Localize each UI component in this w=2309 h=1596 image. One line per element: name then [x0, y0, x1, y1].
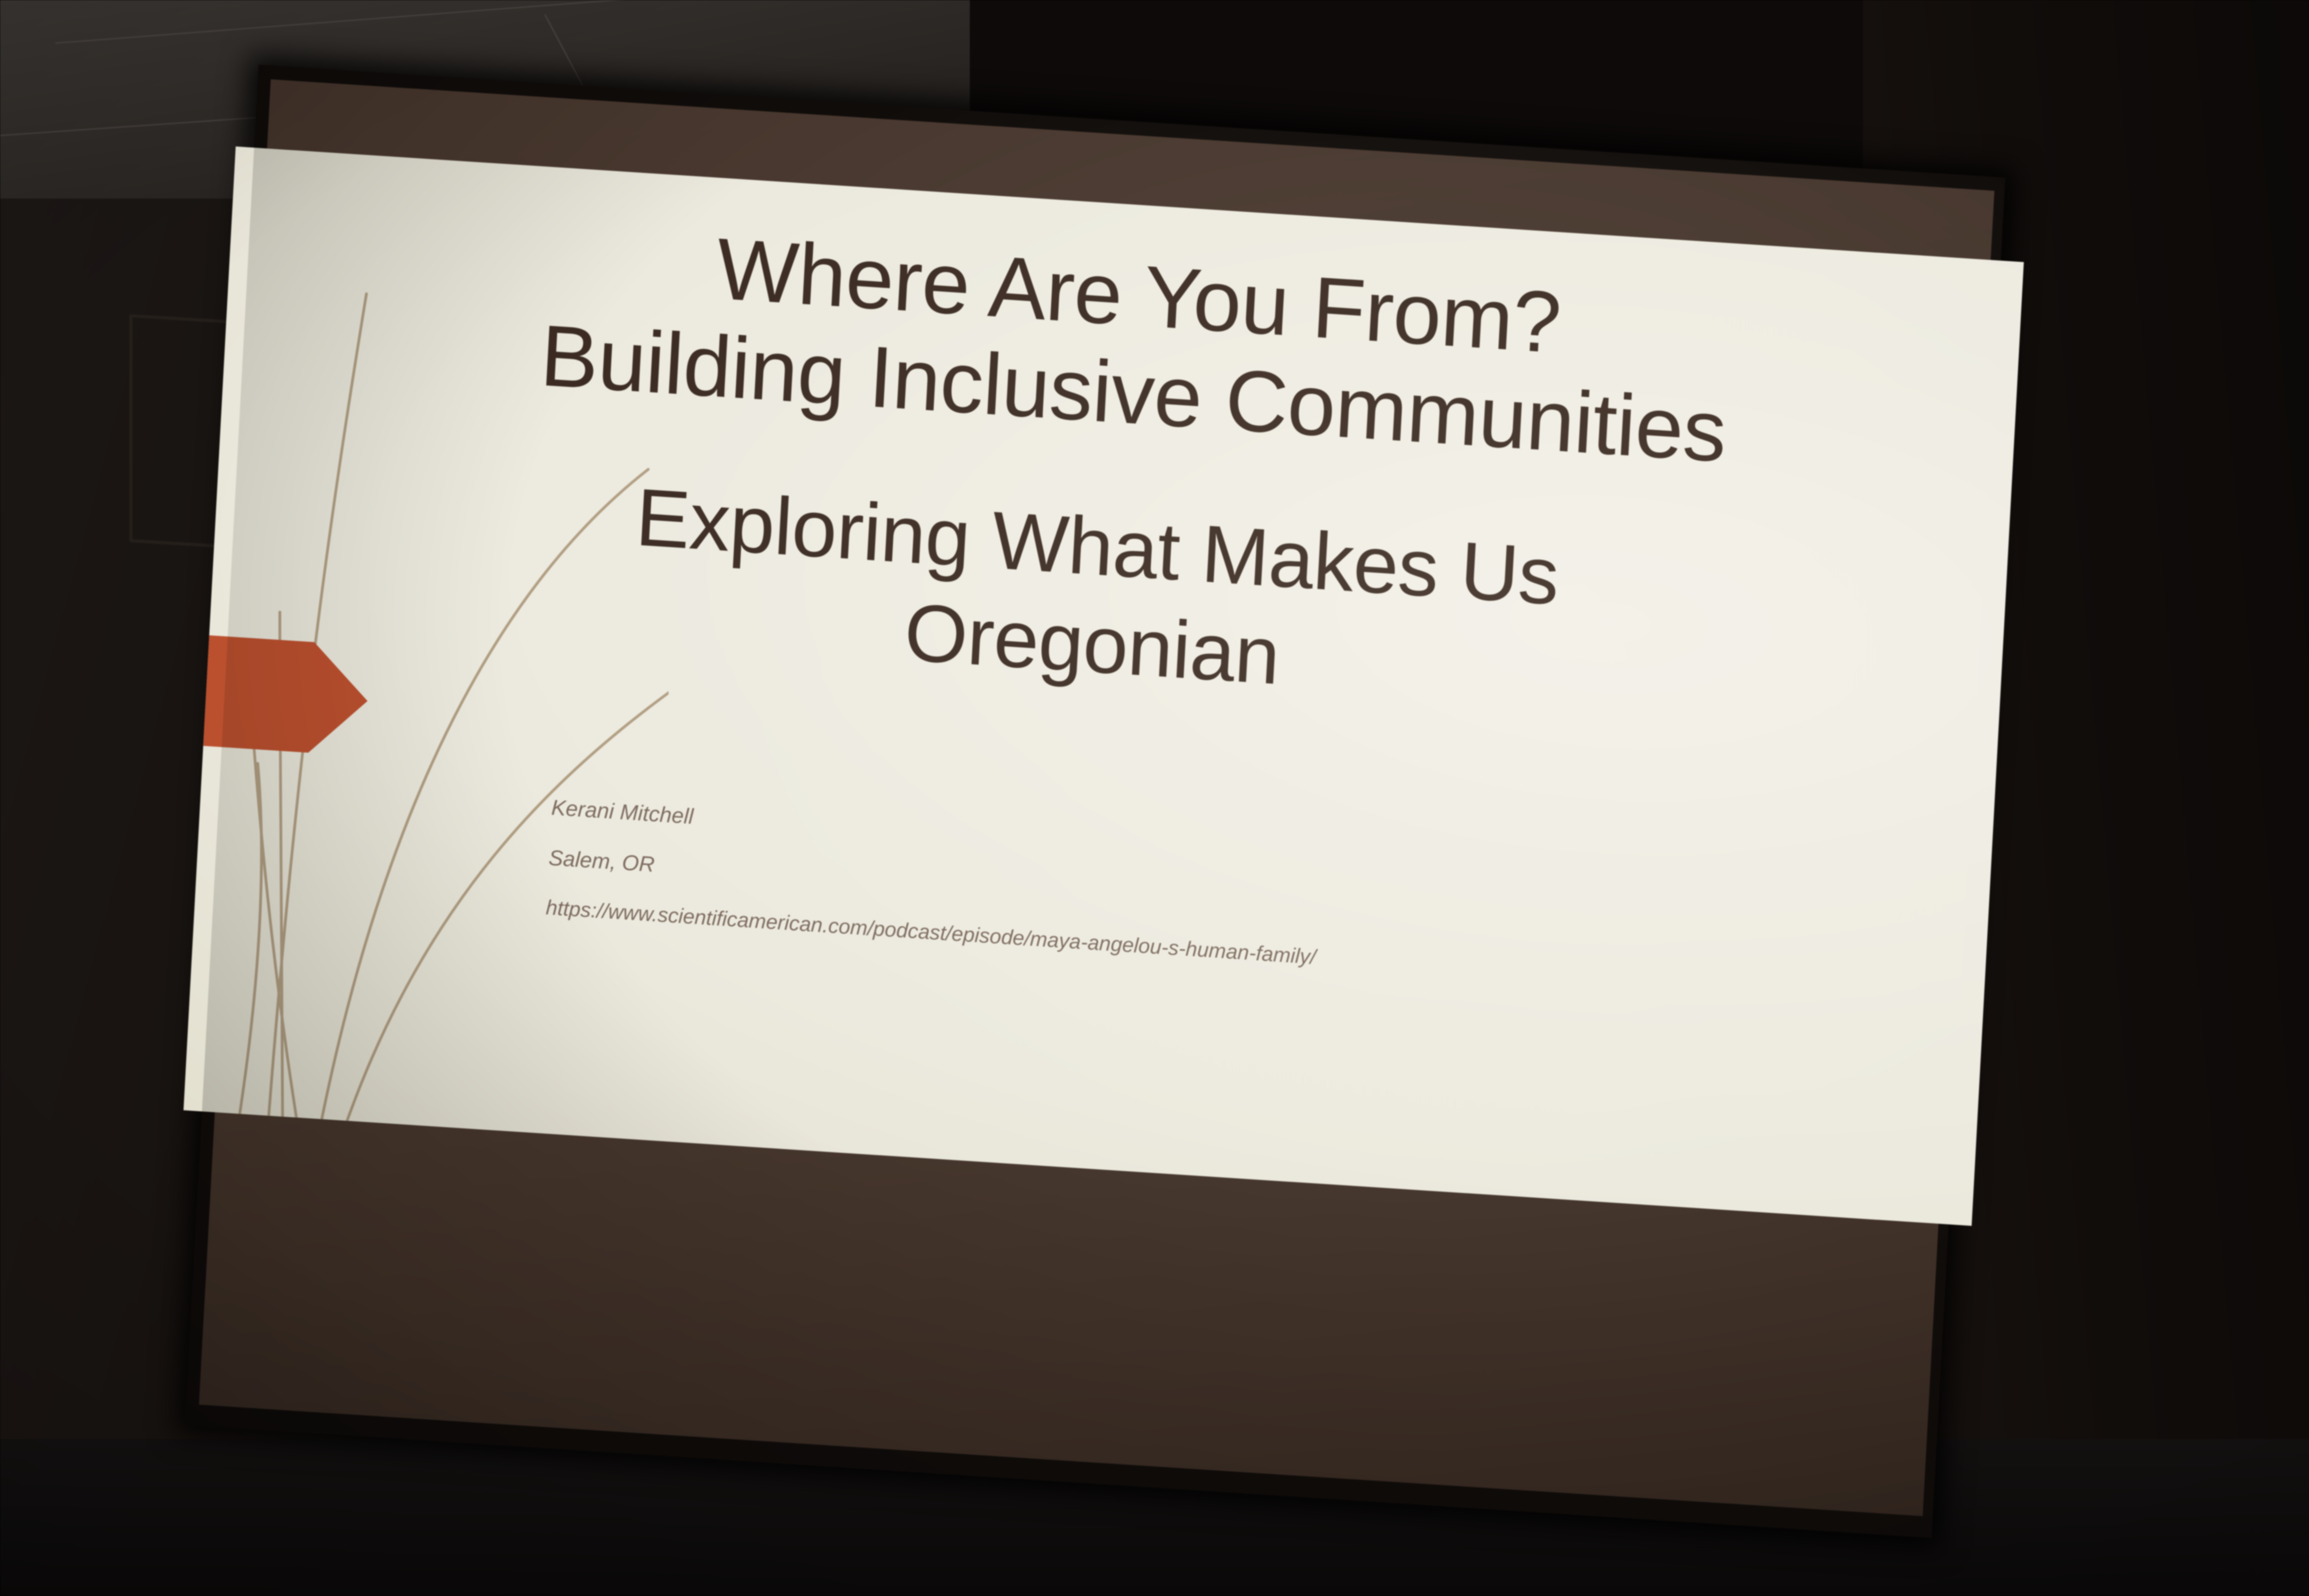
ceiling-tile-seam: [55, 0, 958, 44]
projection-screen: Where Are You From? Building Inclusive C…: [185, 65, 2005, 1538]
slide-subtitle: Exploring What Makes Us Oregonian: [467, 458, 1722, 733]
slide-title: Where Are You From? Building Inclusive C…: [417, 200, 1856, 489]
slide-text-container: Where Are You From? Building Inclusive C…: [183, 146, 2024, 1226]
projector-photo: Where Are You From? Building Inclusive C…: [0, 0, 2309, 1596]
presentation-slide: Where Are You From? Building Inclusive C…: [183, 146, 2024, 1226]
slide-subtitle-line-2: Oregonian: [902, 587, 1282, 701]
slide-byline: Kerani Mitchell Salem, OR https://www.sc…: [545, 796, 1322, 967]
